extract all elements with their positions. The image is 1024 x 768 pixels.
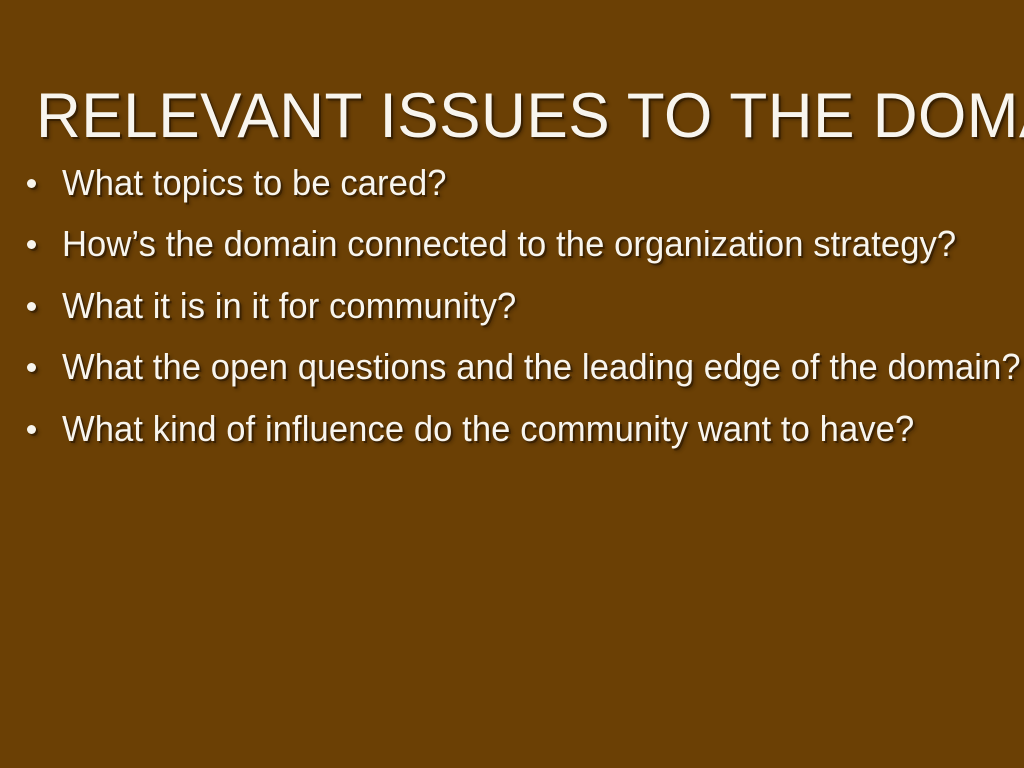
bullet-item-label: What the open questions and the leading … [62,347,1021,387]
bullet-item-label: How’s the domain connected to the organi… [62,224,956,264]
bullet-item-2: How’s the domain connected to the organi… [0,214,1024,276]
bullet-item-4: What the open questions and the leading … [0,337,1024,399]
bullet-point-icon [27,425,36,434]
bullet-item-label: What it is in it for community? [62,286,516,326]
presentation-slide: RELEVANT ISSUES TO THE DOMAIN What topic… [0,0,1024,768]
bullet-point-icon [27,363,36,372]
bullet-point-icon [27,302,36,311]
bullet-item-3: What it is in it for community? [0,275,1024,337]
bullet-point-icon [27,240,36,249]
bullet-point-icon [27,179,36,188]
slide-title: RELEVANT ISSUES TO THE DOMAIN [36,80,982,152]
bullet-item-5: What kind of influence do the community … [0,398,1024,460]
bullet-item-label: What topics to be cared? [62,163,447,203]
bullet-item-label: What kind of influence do the community … [62,409,914,449]
bullet-item-1: What topics to be cared? [0,152,1024,214]
bullet-list: What topics to be cared? How’s the domai… [0,152,1024,460]
